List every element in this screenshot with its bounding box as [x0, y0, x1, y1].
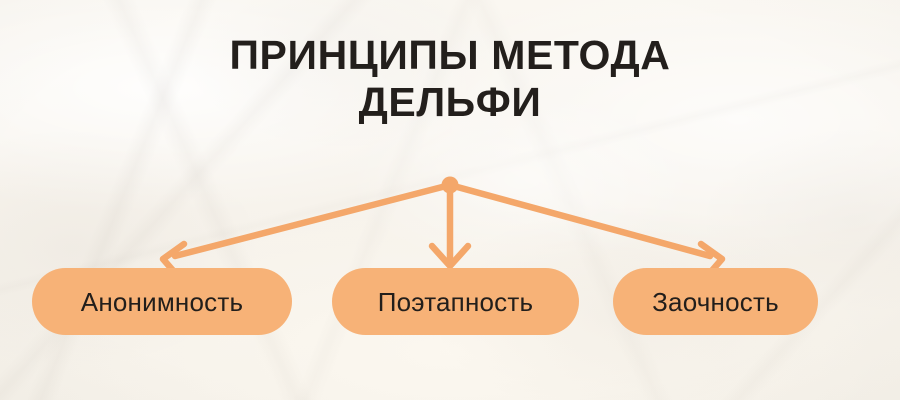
connector-right-line: [450, 185, 710, 256]
slide-canvas: ПРИНЦИПЫ МЕТОДА ДЕЛЬФИ Анонимность Поэта…: [0, 0, 900, 400]
connector-left-line: [175, 185, 450, 256]
principle-label: Поэтапность: [378, 287, 533, 317]
connector-right-group: [450, 185, 722, 274]
principle-node-remote[interactable]: Заочность: [613, 268, 818, 335]
center-node-circle: [442, 177, 459, 194]
diagram-connectors: [0, 0, 900, 400]
connector-center-group: [432, 185, 468, 266]
principle-node-anonymity[interactable]: Анонимность: [32, 268, 292, 335]
principle-label: Анонимность: [81, 287, 243, 317]
principle-node-staged[interactable]: Поэтапность: [332, 268, 579, 335]
connector-left-group: [163, 185, 450, 274]
principle-label: Заочность: [652, 287, 779, 317]
